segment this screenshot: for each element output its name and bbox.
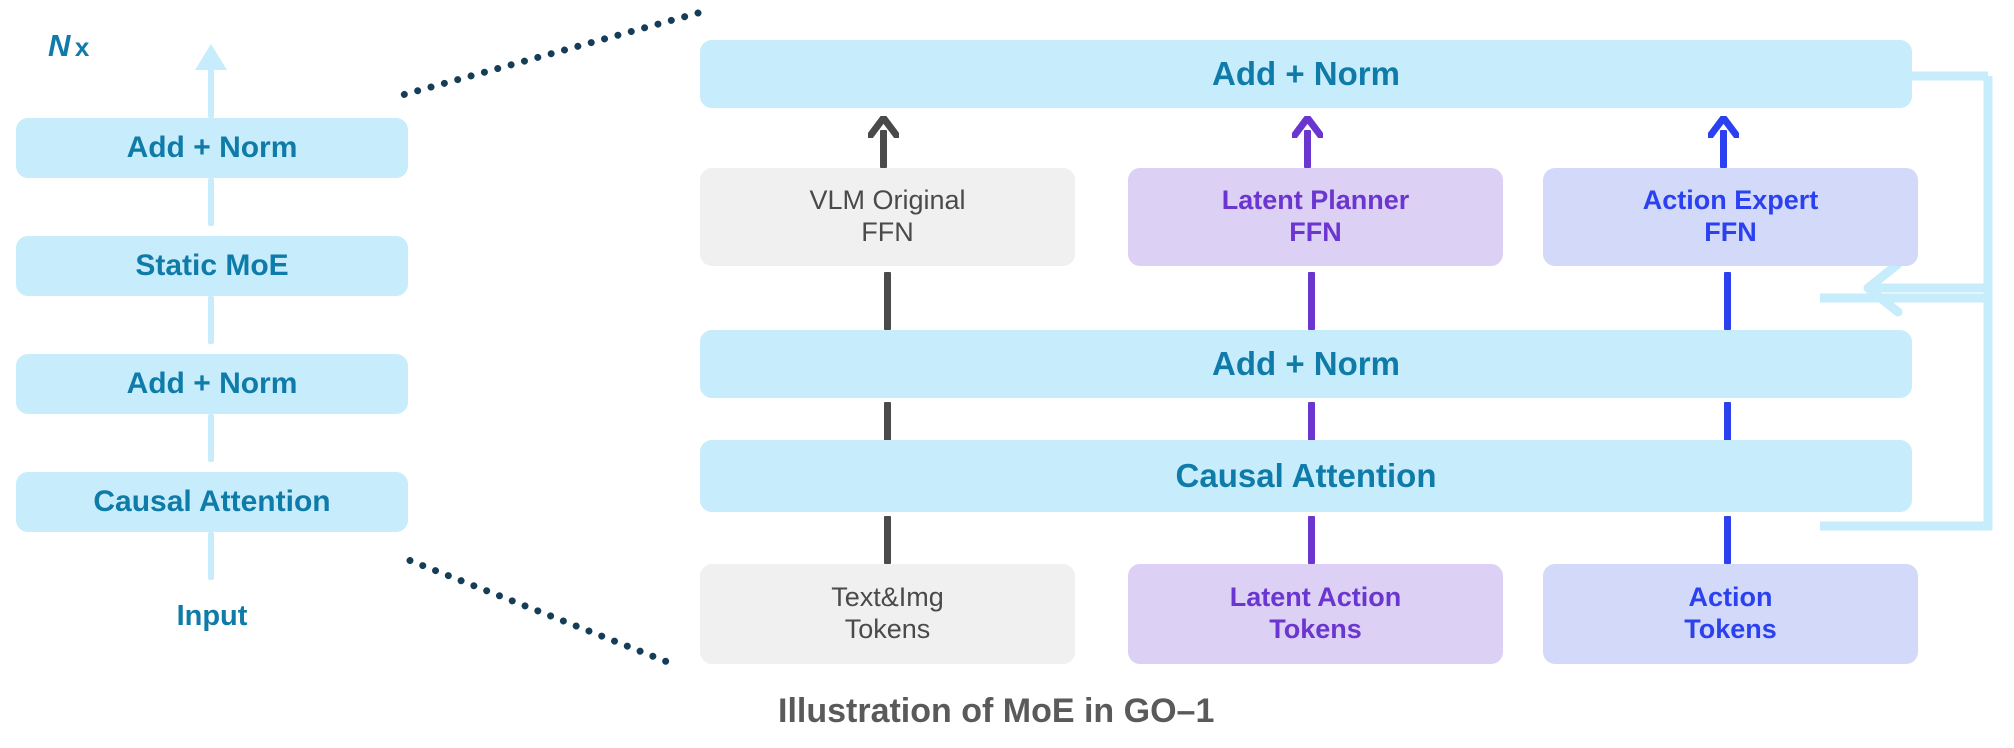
connector-attn-to-token-3 <box>1724 516 1731 564</box>
arrow-shaft <box>1304 130 1311 168</box>
token-box-text-img[interactable]: Text&Img Tokens <box>700 564 1075 664</box>
left-input-connector <box>208 532 214 580</box>
token-box-latent-action[interactable]: Latent Action Tokens <box>1128 564 1503 664</box>
left-input-label: Input <box>16 600 408 633</box>
ffn-box-vlm-original[interactable]: VLM Original FFN <box>700 168 1075 266</box>
connector-attn-to-token-2 <box>1308 516 1315 564</box>
left-block-static-moe[interactable]: Static MoE <box>16 236 408 296</box>
dotted-connector-bottom <box>405 556 670 666</box>
left-connector-2 <box>208 296 214 344</box>
repeat-count-n: N <box>48 28 71 63</box>
dotted-connector-top <box>400 9 703 99</box>
connector-attn-to-token-1 <box>884 516 891 564</box>
connector-action-to-addnorm <box>1724 272 1731 330</box>
connector-addnorm-to-attn-2 <box>1308 402 1315 444</box>
left-block-add-norm-top[interactable]: Add + Norm <box>16 118 408 178</box>
left-output-arrow-head <box>195 44 227 70</box>
ffn-box-latent-planner[interactable]: Latent Planner FFN <box>1128 168 1503 266</box>
connector-addnorm-to-attn-1 <box>884 402 891 444</box>
left-connector-3 <box>208 414 214 462</box>
left-block-causal-attention[interactable]: Causal Attention <box>16 472 408 532</box>
token-box-action[interactable]: Action Tokens <box>1543 564 1918 664</box>
left-connector-1 <box>208 178 214 226</box>
arrow-shaft <box>880 130 887 168</box>
repeat-count-label: Nx <box>48 28 90 64</box>
right-block-causal-attention[interactable]: Causal Attention <box>700 440 1912 512</box>
arrow-shaft <box>1720 130 1727 168</box>
ffn-box-action-expert[interactable]: Action Expert FFN <box>1543 168 1918 266</box>
connector-addnorm-to-attn-3 <box>1724 402 1731 444</box>
figure-caption: Illustration of MoE in GO–1 <box>778 692 1214 731</box>
right-block-add-norm-mid[interactable]: Add + Norm <box>700 330 1912 398</box>
left-output-arrow-shaft <box>208 68 214 118</box>
repeat-count-x: x <box>75 32 90 62</box>
left-block-add-norm-bottom[interactable]: Add + Norm <box>16 354 408 414</box>
diagram-canvas: Nx Add + Norm Static MoE Add + Norm Caus… <box>0 0 2014 748</box>
connector-latent-to-addnorm <box>1308 272 1315 330</box>
right-block-add-norm-top[interactable]: Add + Norm <box>700 40 1912 108</box>
connector-vlm-to-addnorm <box>884 272 891 330</box>
